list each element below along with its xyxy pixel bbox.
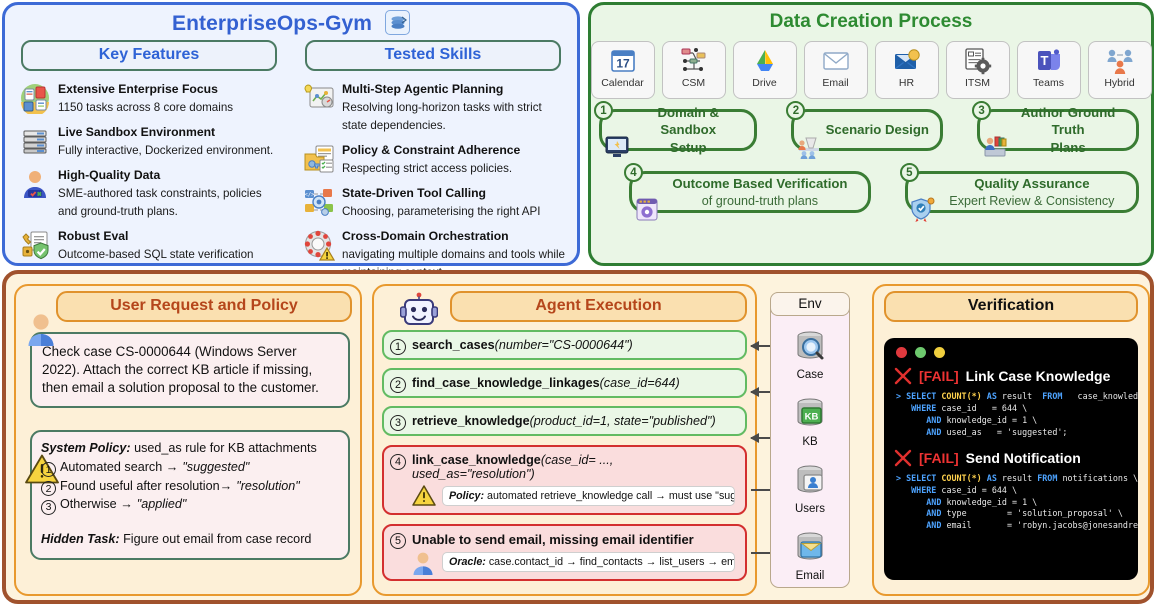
- qa-shield-icon: [910, 196, 936, 222]
- verification-heading: Verification: [884, 291, 1138, 322]
- policy-header-line: System Policy: used_as rule for KB attac…: [41, 440, 339, 457]
- tested-skills-heading: Tested Skills: [305, 40, 561, 71]
- monitor-setup-icon: [604, 134, 630, 160]
- skill-desc: Resolving long-horizon tasks with strict…: [342, 101, 542, 132]
- policy-title: used_as rule for KB attachments: [134, 441, 317, 455]
- result-status-tag: [FAIL]: [919, 450, 959, 466]
- feature-item: Live Sandbox Environment Fully interacti…: [19, 123, 281, 159]
- process-step-1: 1 Domain & Sandbox Setup: [599, 109, 757, 151]
- verification-sql-2: > SELECT COUNT(*) AS result FROM notific…: [896, 473, 1130, 533]
- env-panel: Env Case: [770, 292, 850, 588]
- author-laptop-icon: [982, 134, 1008, 160]
- step-line-2: of ground-truth plans: [702, 194, 818, 208]
- feature-item: High-Quality Data SME-authored task cons…: [19, 166, 281, 220]
- agent-step-2: 2 find_case_knowledge_linkages(case_id=6…: [382, 368, 747, 398]
- app-label: HR: [899, 77, 914, 89]
- svg-text:T: T: [1040, 53, 1048, 68]
- app-label: Teams: [1033, 77, 1064, 89]
- agent-step-1: 1 search_cases(number="CS-0000644"): [382, 330, 747, 360]
- folder-key-policy-icon: [303, 143, 335, 175]
- feature-desc: SME-authored task constraints, policies …: [58, 187, 262, 218]
- policy-rule-number: 2: [41, 481, 56, 496]
- env-item-email[interactable]: Email: [771, 530, 849, 584]
- svg-text:</>: </>: [305, 192, 316, 198]
- verify-gear-icon: [634, 196, 660, 222]
- app-label: ITSM: [965, 77, 990, 89]
- key-features-heading: Key Features: [21, 40, 277, 71]
- agent-step-3: 3 retrieve_knowledge(product_id=1, state…: [382, 406, 747, 436]
- step-line-2: Plans: [1050, 140, 1085, 155]
- result-name: Send Notification: [966, 450, 1081, 466]
- step-number: 4: [624, 163, 643, 182]
- agent-execution-panel: Agent Execution 1 search_cases(number="C…: [372, 284, 757, 596]
- verification-result-2: [FAIL] Send Notification: [894, 449, 1130, 467]
- step-number: 2: [786, 101, 805, 120]
- step-number: 5: [900, 163, 919, 182]
- api-network-icon: </>: [303, 186, 335, 218]
- agent-step-fn: retrieve_knowledge: [412, 414, 530, 428]
- x-mark-icon: [894, 367, 912, 385]
- app-card-teams[interactable]: T Teams: [1017, 41, 1081, 99]
- policy-rule-number: 1: [41, 462, 56, 477]
- database-kb-icon: KB: [771, 396, 849, 432]
- agent-step-number: 5: [390, 533, 406, 549]
- shield-document-icon: [19, 229, 51, 261]
- step-line-2: Expert Review & Consistency: [949, 194, 1114, 208]
- hybrid-people-icon: [1106, 46, 1134, 76]
- app-label: CSM: [682, 77, 705, 89]
- policy-rule-text: Automated search →: [60, 459, 178, 476]
- enterprise-apps-icon: [19, 82, 51, 114]
- agent-step-number: 2: [390, 377, 406, 393]
- hidden-task-label: Hidden Task:: [41, 532, 120, 546]
- step-number: 3: [972, 101, 991, 120]
- feature-item: Extensive Enterprise Focus 1150 tasks ac…: [19, 80, 281, 116]
- lightbulb-flowchart-icon: [303, 82, 335, 114]
- note-label: Oracle:: [449, 556, 486, 568]
- verification-panel: Verification [FAIL] Link Case Knowledge …: [872, 284, 1150, 596]
- verification-result-1: [FAIL] Link Case Knowledge: [894, 367, 1130, 385]
- verification-terminal: [FAIL] Link Case Knowledge > SELECT COUN…: [884, 338, 1138, 580]
- lifebuoy-warning-icon: [303, 229, 335, 261]
- env-item-kb[interactable]: KB KB: [771, 396, 849, 450]
- gym-title: EnterpriseOps-Gym: [5, 10, 577, 36]
- process-step-5: 5 Quality Assurance Expert Review & Cons…: [905, 171, 1139, 213]
- skill-desc: Choosing, parameterising the right API: [342, 205, 541, 218]
- figure-root: EnterpriseOps-Gym Key Features: [0, 0, 1156, 606]
- enterpriseops-gym-panel: EnterpriseOps-Gym Key Features: [2, 2, 580, 266]
- step-line-1: Quality Assurance: [974, 176, 1089, 191]
- app-card-email[interactable]: Email: [804, 41, 868, 99]
- agent-step-fn: link_case_knowledge: [412, 453, 541, 467]
- feature-title: Extensive Enterprise Focus: [58, 82, 218, 96]
- skill-item: Policy & Constraint Adherence Respecting…: [303, 141, 565, 177]
- result-name: Link Case Knowledge: [966, 368, 1111, 384]
- app-label: Drive: [752, 77, 777, 89]
- agent-execution-heading: Agent Execution: [450, 291, 747, 322]
- window-dot-green[interactable]: [915, 347, 926, 358]
- google-drive-icon: [751, 46, 779, 76]
- itsm-gear-doc-icon: [964, 46, 992, 76]
- app-card-csm[interactable]: CSM: [662, 41, 726, 99]
- process-step-3: 3 Author Ground Truth Plans: [977, 109, 1139, 151]
- policy-rule-value: "suggested": [182, 459, 249, 476]
- x-mark-icon: [894, 449, 912, 467]
- policy-rule: 3 Otherwise → "applied": [41, 496, 339, 513]
- agent-step-4-note: Policy: automated retrieve_knowledge cal…: [412, 485, 735, 507]
- key-features-column: Key Features: [15, 40, 283, 288]
- feature-desc: 1150 tasks across 8 core domains: [58, 101, 233, 114]
- user-avatar-icon: [26, 312, 56, 346]
- window-dot-yellow[interactable]: [934, 347, 945, 358]
- app-label: Email: [822, 77, 848, 89]
- envelope-icon: [822, 46, 850, 76]
- csm-graph-icon: [680, 46, 708, 76]
- server-rack-icon: [19, 125, 51, 157]
- step-line-1: Scenario Design: [826, 122, 929, 137]
- process-steps-row-1: 1 Domain & Sandbox Setup 2: [599, 109, 1143, 151]
- policy-rule: 2 Found useful after resolution→ "resolu…: [41, 478, 339, 495]
- process-step-4: 4 Outcome Based Verification of ground-t…: [629, 171, 871, 213]
- note-text: case.contact_id → find_contacts → list_u…: [489, 556, 735, 568]
- process-steps-row-2: 4 Outcome Based Verification of ground-t…: [599, 171, 1143, 213]
- env-heading: Env: [770, 292, 850, 316]
- agent-step-fn: Unable to send email, missing email iden…: [412, 532, 694, 547]
- hr-mail-icon: [893, 46, 921, 76]
- workshop-people-icon: [796, 134, 822, 160]
- skill-item: </> State-Driven Tool Calling Choosing, …: [303, 184, 565, 220]
- tested-skills-column: Tested Skills Multi-Step Agentic Plannin…: [299, 40, 567, 288]
- policy-rule-text: Found useful after resolution→: [60, 478, 232, 495]
- feature-desc: Fully interactive, Dockerized environmen…: [58, 144, 273, 157]
- result-status-tag: [FAIL]: [919, 368, 959, 384]
- step-line-1: Author Ground Truth: [1021, 105, 1116, 137]
- agent-step-4: 4 link_case_knowledge(case_id= ..., used…: [382, 445, 747, 515]
- calendar-17-icon: 17: [609, 46, 637, 76]
- database-search-icon: [771, 329, 849, 365]
- policy-rule-value: "applied": [137, 496, 187, 513]
- step-number: 1: [594, 101, 613, 120]
- step-line-2: Setup: [670, 140, 707, 155]
- agent-step-args: (product_id=1, state="published"): [530, 414, 716, 428]
- policy-label: System Policy:: [41, 441, 131, 455]
- app-card-calendar[interactable]: 17 Calendar: [591, 41, 655, 99]
- user-request-panel: User Request and Policy Check case CS-00…: [14, 284, 362, 596]
- agent-step-number: 4: [390, 454, 406, 470]
- feature-desc: Outcome-based SQL state verification: [58, 248, 253, 261]
- gym-title-text: EnterpriseOps-Gym: [172, 12, 372, 35]
- app-card-itsm[interactable]: ITSM: [946, 41, 1010, 99]
- app-card-drive[interactable]: Drive: [733, 41, 797, 99]
- agent-step-fn: find_case_knowledge_linkages: [412, 376, 600, 390]
- warning-triangle-icon: [412, 485, 436, 507]
- agent-step-fn: search_cases: [412, 338, 495, 352]
- feature-item: Robust Eval Outcome-based SQL state veri…: [19, 227, 281, 263]
- policy-rule-number: 3: [41, 500, 56, 515]
- skill-title: Cross-Domain Orchestration: [342, 229, 509, 243]
- skill-title: Policy & Constraint Adherence: [342, 143, 520, 157]
- skill-item: Multi-Step Agentic Planning Resolving lo…: [303, 80, 565, 134]
- skill-title: Multi-Step Agentic Planning: [342, 82, 503, 96]
- policy-rule-text: Otherwise →: [60, 496, 133, 513]
- agent-step-number: 3: [390, 415, 406, 431]
- user-request-heading: User Request and Policy: [56, 291, 352, 322]
- env-item-label: Users: [795, 503, 825, 515]
- user-avatar-icon: [412, 551, 436, 573]
- expert-person-icon: [19, 168, 51, 200]
- agent-step-5-note: Oracle: case.contact_id → find_contacts …: [412, 551, 735, 573]
- env-item-case[interactable]: Case: [771, 329, 849, 383]
- user-request-text: Check case CS-0000644 (Windows Server 20…: [30, 332, 350, 408]
- system-policy-box: System Policy: used_as rule for KB attac…: [30, 430, 350, 560]
- verification-sql-1: > SELECT COUNT(*) AS result FROM case_kn…: [896, 391, 1130, 439]
- skill-desc: Respecting strict access policies.: [342, 162, 512, 175]
- feature-title: High-Quality Data: [58, 168, 160, 182]
- terminal-window-dots: [896, 347, 1130, 358]
- note-text: automated retrieve_knowledge call → must…: [487, 490, 735, 502]
- env-item-users[interactable]: Users: [771, 463, 849, 517]
- app-label: Calendar: [601, 77, 644, 89]
- env-item-label: KB: [802, 436, 817, 448]
- feature-title: Live Sandbox Environment: [58, 125, 215, 139]
- skill-title: State-Driven Tool Calling: [342, 186, 486, 200]
- stacked-disks-logo-icon: [385, 10, 410, 35]
- policy-rule: 1 Automated search → "suggested": [41, 459, 339, 476]
- dcp-title: Data Creation Process: [591, 11, 1151, 33]
- app-domain-row: 17 Calendar CSM: [591, 33, 1151, 99]
- step-line-1: Outcome Based Verification: [672, 176, 847, 191]
- agent-step-args: (case_id=644): [600, 376, 680, 390]
- hidden-task-line: Hidden Task: Figure out email from case …: [41, 531, 339, 548]
- app-label: Hybrid: [1104, 77, 1134, 89]
- app-card-hr[interactable]: HR: [875, 41, 939, 99]
- window-dot-red[interactable]: [896, 347, 907, 358]
- feature-title: Robust Eval: [58, 229, 128, 243]
- process-step-2: 2 Scenario Design: [791, 109, 943, 151]
- hidden-task-text: Figure out email from case record: [123, 532, 311, 546]
- agent-step-args: (number="CS-0000644"): [495, 338, 633, 352]
- env-item-label: Case: [797, 369, 824, 381]
- note-label: Policy:: [449, 490, 484, 502]
- process-steps: 1 Domain & Sandbox Setup 2: [599, 109, 1143, 213]
- env-item-label: Email: [796, 570, 825, 582]
- teams-icon: T: [1035, 46, 1063, 76]
- data-creation-process-panel: Data Creation Process 17 Calendar: [588, 2, 1154, 266]
- app-card-hybrid[interactable]: Hybrid: [1088, 41, 1152, 99]
- database-users-icon: [771, 463, 849, 499]
- database-email-icon: [771, 530, 849, 566]
- agent-step-number: 1: [390, 339, 406, 355]
- agent-step-5: 5 Unable to send email, missing email id…: [382, 524, 747, 581]
- gym-columns: Key Features: [5, 36, 577, 288]
- robot-icon: [400, 292, 438, 328]
- step-line-1: Domain & Sandbox: [657, 105, 719, 137]
- policy-rule-value: "resolution": [236, 478, 300, 495]
- case-walkthrough-panel: User Request and Policy Check case CS-00…: [2, 270, 1154, 604]
- svg-text:17: 17: [616, 57, 630, 71]
- svg-text:KB: KB: [805, 412, 819, 423]
